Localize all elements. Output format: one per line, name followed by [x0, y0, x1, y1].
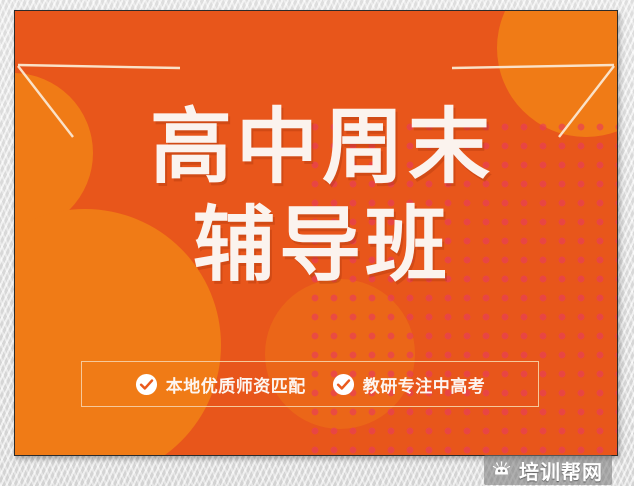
- feature-badge-1: 本地优质师资匹配: [135, 372, 306, 397]
- poster-title-line-1: 高中周末: [27, 107, 617, 189]
- feature-badge-1-label: 本地优质师资匹配: [166, 372, 306, 397]
- promotional-poster: 高中周末 辅导班 本地优质师资匹配 教研专注中高考: [14, 10, 618, 456]
- circle-decoration-left: [14, 73, 93, 233]
- poster-title-block: 高中周末 辅导班: [15, 107, 617, 287]
- check-circle-icon: [135, 373, 158, 396]
- poster-title-line-2: 辅导班: [27, 205, 617, 287]
- corner-bracket-left-icon: [15, 59, 185, 159]
- page-canvas: 高中周末 辅导班 本地优质师资匹配 教研专注中高考: [0, 0, 634, 486]
- feature-badge-bar: 本地优质师资匹配 教研专注中高考: [81, 361, 539, 407]
- feature-badge-2: 教研专注中高考: [332, 372, 486, 397]
- sun-face-logo-icon: [491, 460, 512, 481]
- corner-bracket-right-icon: [447, 59, 617, 159]
- circle-decoration-top-right: [497, 10, 618, 137]
- watermark-text: 培训帮网: [519, 456, 603, 485]
- feature-badge-2-label: 教研专注中高考: [363, 372, 486, 397]
- circle-decoration-bottom-left: [14, 209, 221, 456]
- check-circle-icon: [332, 373, 355, 396]
- watermark: 培训帮网: [484, 455, 612, 485]
